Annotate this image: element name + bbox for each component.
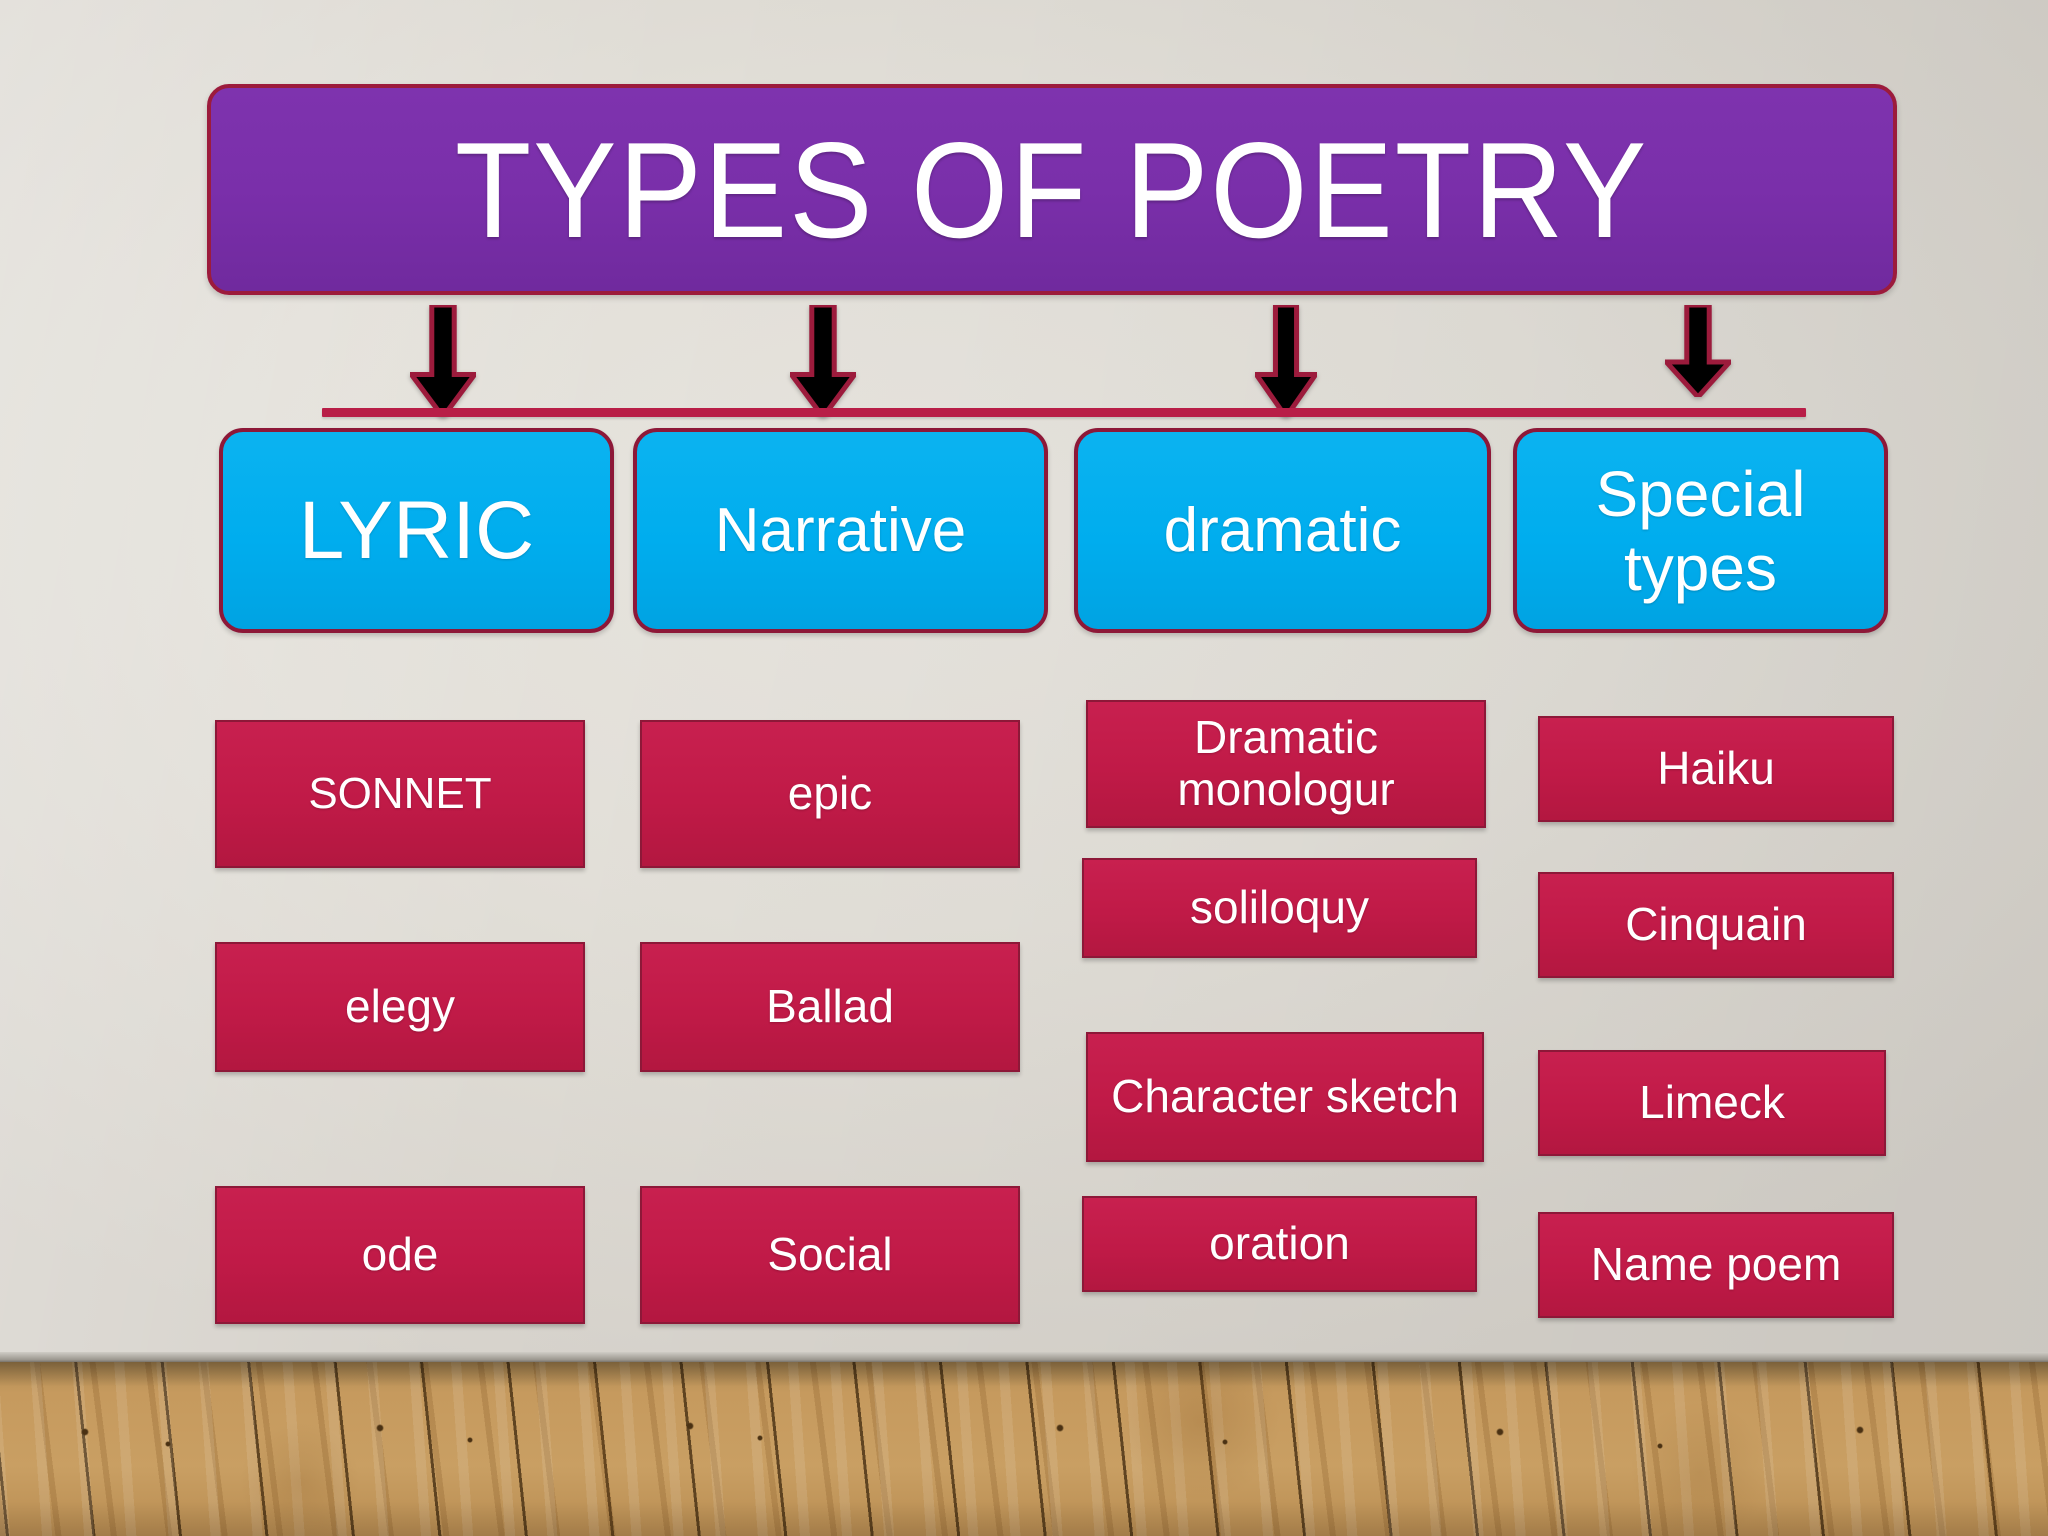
item-box-dramatic-monologur[interactable]: Dramatic monologur [1086, 700, 1486, 828]
slide-canvas: TYPES OF POETRY LYRICNarrativedramaticSp… [0, 0, 2048, 1536]
category-label: dramatic [1164, 495, 1402, 566]
category-row: LYRICNarrativedramaticSpecial types [0, 428, 2048, 633]
item-box-cinquain[interactable]: Cinquain [1538, 872, 1894, 978]
item-box-soliloquy[interactable]: soliloquy [1082, 858, 1477, 958]
item-box-social[interactable]: Social [640, 1186, 1020, 1324]
arrow-to-special-types-icon [1665, 305, 1731, 397]
item-label: Ballad [766, 981, 894, 1033]
category-box-special-types[interactable]: Special types [1513, 428, 1888, 633]
item-label: ode [362, 1229, 439, 1281]
item-box-haiku[interactable]: Haiku [1538, 716, 1894, 822]
item-box-elegy[interactable]: elegy [215, 942, 585, 1072]
wooden-floor [0, 1362, 2048, 1536]
item-box-epic[interactable]: epic [640, 720, 1020, 868]
slide-title-box: TYPES OF POETRY [207, 84, 1897, 295]
item-box-limeck[interactable]: Limeck [1538, 1050, 1886, 1156]
item-box-sonnet[interactable]: SONNET [215, 720, 585, 868]
category-label: Narrative [715, 495, 967, 566]
floor-shading [0, 1362, 2048, 1536]
item-label: Limeck [1639, 1077, 1785, 1129]
item-label: elegy [345, 981, 455, 1033]
item-label: epic [788, 768, 872, 820]
item-label: Haiku [1657, 743, 1775, 795]
item-box-name-poem[interactable]: Name poem [1538, 1212, 1894, 1318]
item-box-character-sketch[interactable]: Character sketch [1086, 1032, 1484, 1162]
item-label: Name poem [1591, 1239, 1842, 1291]
item-label: oration [1209, 1218, 1350, 1270]
category-box-narrative[interactable]: Narrative [633, 428, 1048, 633]
arrow-to-narrative-icon [790, 305, 856, 417]
category-box-dramatic[interactable]: dramatic [1074, 428, 1491, 633]
item-label: SONNET [308, 769, 491, 818]
divider-line [322, 408, 1806, 417]
arrow-to-lyric-icon [410, 305, 476, 417]
item-box-oration[interactable]: oration [1082, 1196, 1477, 1292]
item-label: Cinquain [1625, 899, 1807, 951]
item-box-ode[interactable]: ode [215, 1186, 585, 1324]
category-box-lyric[interactable]: LYRIC [219, 428, 614, 633]
item-label: soliloquy [1190, 882, 1369, 934]
arrow-to-dramatic-icon [1255, 305, 1317, 417]
item-label: Social [767, 1229, 892, 1281]
item-label: Dramatic monologur [1096, 712, 1476, 815]
item-box-ballad[interactable]: Ballad [640, 942, 1020, 1072]
category-label: LYRIC [299, 484, 534, 578]
category-label: Special types [1527, 457, 1874, 605]
page-title: TYPES OF POETRY [455, 122, 1648, 258]
item-label: Character sketch [1111, 1071, 1459, 1123]
